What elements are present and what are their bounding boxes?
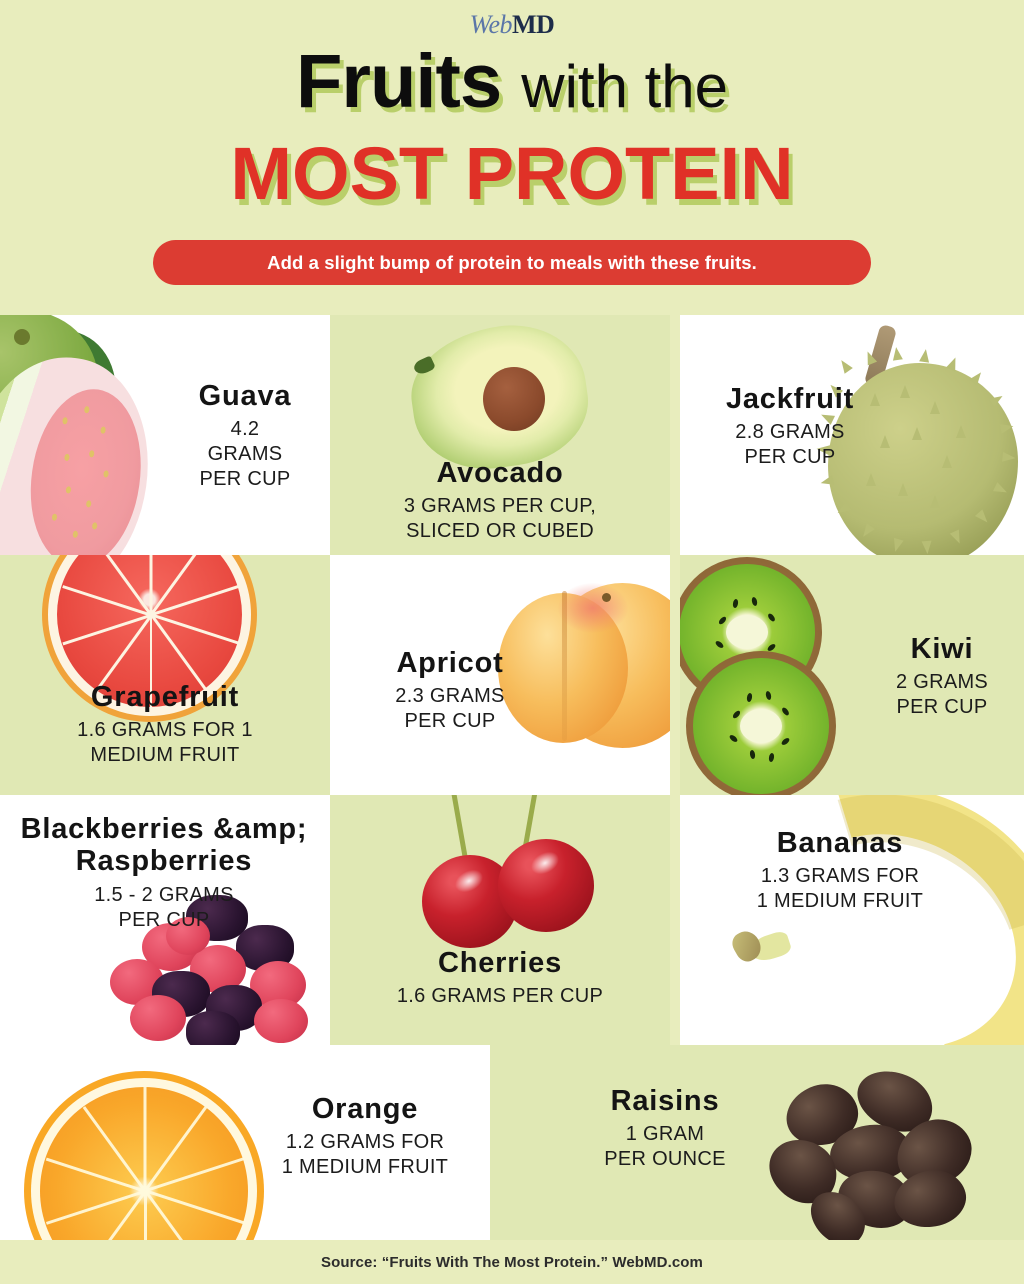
fruit-card-bananas[interactable]: Bananas 1.3 GRAMS FOR 1 MEDIUM FRUIT xyxy=(680,795,1024,1045)
fruit-card-avocado[interactable]: Avocado 3 GRAMS PER CUP, SLICED OR CUBED xyxy=(330,315,670,555)
fruit-amount-kiwi: 2 GRAMS PER CUP xyxy=(862,670,1022,720)
fruit-amount-berries: 1.5 - 2 GRAMS PER CUP xyxy=(14,883,314,933)
logo-web-text: Web xyxy=(470,10,512,39)
fruit-card-apricot[interactable]: Apricot 2.3 GRAMS PER CUP xyxy=(330,555,670,795)
avocado-amount-l1: 3 GRAMS PER CUP, xyxy=(404,495,596,517)
guava-amount-l3: PER CUP xyxy=(199,468,290,490)
fruit-amount-guava: 4.2 GRAMS PER CUP xyxy=(165,417,325,492)
subtitle-banner: Add a slight bump of protein to meals wi… xyxy=(153,240,871,285)
fruit-name-cherries: Cherries xyxy=(345,947,655,979)
raisins-amount-l1: 1 GRAM xyxy=(626,1123,704,1145)
orange-amount-l1: 1.2 GRAMS FOR xyxy=(286,1131,444,1153)
fruit-card-kiwi[interactable]: Kiwi 2 GRAMS PER CUP xyxy=(680,555,1024,795)
title-light-words: with the xyxy=(521,53,728,120)
fruit-card-grapefruit[interactable]: Grapefruit 1.6 GRAMS FOR 1 MEDIUM FRUIT xyxy=(0,555,330,795)
fruit-card-cherries[interactable]: Cherries 1.6 GRAMS PER CUP xyxy=(330,795,670,1045)
fruit-name-berries: Blackberries &amp; Raspberries xyxy=(14,813,314,878)
subtitle-banner-text: Add a slight bump of protein to meals wi… xyxy=(267,252,757,274)
fruit-card-orange[interactable]: Orange 1.2 GRAMS FOR 1 MEDIUM FRUIT xyxy=(0,1045,490,1240)
fruit-name-grapefruit: Grapefruit xyxy=(15,681,315,713)
header: WebMD Fruits with the MOST PROTEIN Add a… xyxy=(0,0,1024,310)
fruit-name-kiwi: Kiwi xyxy=(862,633,1022,665)
fruit-amount-grapefruit: 1.6 GRAMS FOR 1 MEDIUM FRUIT xyxy=(15,718,315,768)
jackfruit-amount-l1: 2.8 GRAMS xyxy=(735,421,844,443)
berries-amount-l2: PER CUP xyxy=(118,909,209,931)
berries-amount-l1: 1.5 - 2 GRAMS xyxy=(94,884,234,906)
grapefruit-amount-l2: MEDIUM FRUIT xyxy=(90,744,239,766)
fruit-card-raisins[interactable]: Raisins 1 GRAM PER OUNCE xyxy=(490,1045,1024,1240)
fruit-card-jackfruit[interactable]: Jackfruit 2.8 GRAMS PER CUP xyxy=(680,315,1024,555)
guava-amount-l2: GRAMS xyxy=(208,443,283,465)
fruit-amount-orange: 1.2 GRAMS FOR 1 MEDIUM FRUIT xyxy=(260,1130,470,1180)
kiwi-amount-l1: 2 GRAMS xyxy=(896,671,988,693)
avocado-amount-l2: SLICED OR CUBED xyxy=(406,520,594,542)
page-title-line2: MOST PROTEIN xyxy=(0,137,1024,211)
source-citation: Source: “Fruits With The Most Protein.” … xyxy=(321,1254,703,1271)
bananas-amount-l1: 1.3 GRAMS FOR xyxy=(761,865,919,887)
fruit-name-bananas: Bananas xyxy=(730,827,950,859)
fruit-amount-cherries: 1.6 GRAMS PER CUP xyxy=(345,984,655,1009)
fruit-name-raisins: Raisins xyxy=(550,1085,780,1117)
apricot-amount-l2: PER CUP xyxy=(404,710,495,732)
fruit-name-jackfruit: Jackfruit xyxy=(700,383,880,415)
guava-amount-l1: 4.2 xyxy=(231,418,260,440)
webmd-logo: WebMD xyxy=(0,12,1024,38)
fruit-card-grid: Guava 4.2 GRAMS PER CUP Avocado 3 GRAMS … xyxy=(0,310,1024,1240)
footer: Source: “Fruits With The Most Protein.” … xyxy=(0,1240,1024,1284)
cherries-amount-l1: 1.6 GRAMS PER CUP xyxy=(397,985,603,1007)
fruit-card-guava[interactable]: Guava 4.2 GRAMS PER CUP xyxy=(0,315,330,555)
fruit-amount-apricot: 2.3 GRAMS PER CUP xyxy=(350,684,550,734)
fruit-amount-bananas: 1.3 GRAMS FOR 1 MEDIUM FRUIT xyxy=(730,864,950,914)
raisins-amount-l2: PER OUNCE xyxy=(604,1148,726,1170)
fruit-amount-avocado: 3 GRAMS PER CUP, SLICED OR CUBED xyxy=(360,494,640,544)
fruit-name-apricot: Apricot xyxy=(350,647,550,679)
logo-md-text: MD xyxy=(512,10,554,39)
grapefruit-amount-l1: 1.6 GRAMS FOR 1 xyxy=(77,719,253,741)
bananas-amount-l2: 1 MEDIUM FRUIT xyxy=(757,890,923,912)
page-title-line1: Fruits with the xyxy=(0,44,1024,120)
apricot-amount-l1: 2.3 GRAMS xyxy=(395,685,504,707)
jackfruit-amount-l2: PER CUP xyxy=(744,446,835,468)
kiwi-amount-l2: PER CUP xyxy=(896,696,987,718)
fruit-amount-jackfruit: 2.8 GRAMS PER CUP xyxy=(700,420,880,470)
orange-amount-l2: 1 MEDIUM FRUIT xyxy=(282,1156,448,1178)
fruit-name-avocado: Avocado xyxy=(360,457,640,489)
title-bold-word: Fruits xyxy=(296,39,501,124)
fruit-name-guava: Guava xyxy=(165,380,325,412)
fruit-name-orange: Orange xyxy=(260,1093,470,1125)
fruit-card-berries[interactable]: Blackberries &amp; Raspberries 1.5 - 2 G… xyxy=(0,795,330,1045)
fruit-amount-raisins: 1 GRAM PER OUNCE xyxy=(550,1122,780,1172)
infographic-page: WebMD Fruits with the MOST PROTEIN Add a… xyxy=(0,0,1024,1284)
